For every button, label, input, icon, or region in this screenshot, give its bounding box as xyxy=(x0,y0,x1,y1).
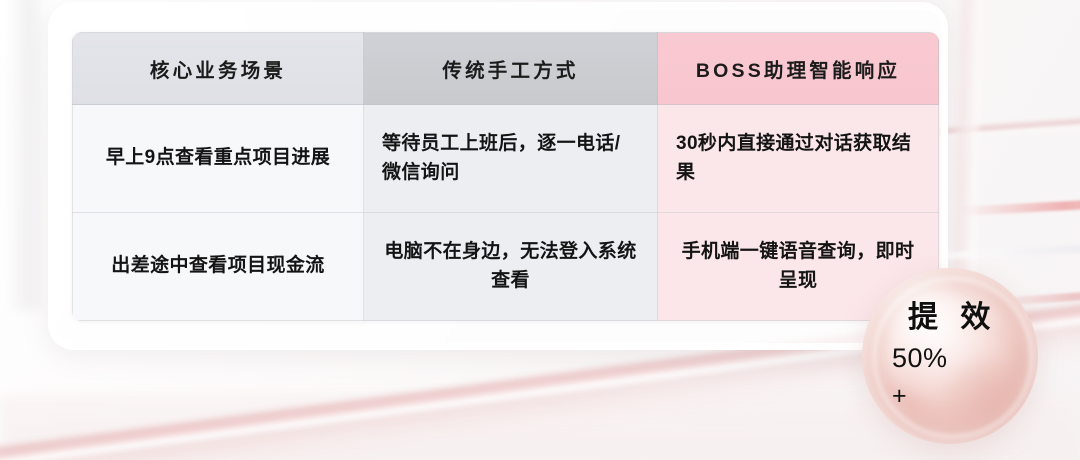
cell-manual-text: 等待员工上班后，逐一电话/微信询问 xyxy=(382,130,639,186)
cell-manual: 等待员工上班后，逐一电话/微信询问 xyxy=(364,105,658,213)
table-row: 早上9点查看重点项目进展 等待员工上班后，逐一电话/微信询问 30秒内直接通过对… xyxy=(73,105,939,213)
column-header-boss: BOSS助理智能响应 xyxy=(658,33,939,105)
background-streak-right-1 xyxy=(960,193,1080,216)
background-streak-left-vertical xyxy=(8,0,48,310)
cell-scenario: 出差途中查看项目现金流 xyxy=(73,213,364,321)
cell-manual-text: 电脑不在身边，无法登入系统查看 xyxy=(382,238,639,294)
comparison-table: 核心业务场景 传统手工方式 BOSS助理智能响应 早上9点查看重点项目进展 等待… xyxy=(72,32,939,321)
cell-manual: 电脑不在身边，无法登入系统查看 xyxy=(364,213,658,321)
table-row: 出差途中查看项目现金流 电脑不在身边，无法登入系统查看 手机端一键语音查询，即时… xyxy=(73,213,939,321)
table-header: 核心业务场景 传统手工方式 BOSS助理智能响应 xyxy=(73,33,939,105)
cell-scenario-text: 出差途中查看项目现金流 xyxy=(91,252,345,280)
cell-scenario-text: 早上9点查看重点项目进展 xyxy=(91,144,345,172)
table-header-row: 核心业务场景 传统手工方式 BOSS助理智能响应 xyxy=(73,33,939,105)
background-streak-right-3 xyxy=(940,237,1080,259)
badge-text-group: 提 效 50% + xyxy=(862,268,1038,444)
cell-scenario: 早上9点查看重点项目进展 xyxy=(73,105,364,213)
badge-suffix: + xyxy=(892,384,907,409)
table-body: 早上9点查看重点项目进展 等待员工上班后，逐一电话/微信询问 30秒内直接通过对… xyxy=(73,105,939,321)
column-header-manual: 传统手工方式 xyxy=(364,33,658,105)
efficiency-badge: 提 效 50% + xyxy=(862,268,1038,444)
badge-value: 50% xyxy=(892,345,948,372)
cell-boss-text: 30秒内直接通过对话获取结果 xyxy=(676,130,920,186)
cell-boss: 30秒内直接通过对话获取结果 xyxy=(658,105,939,213)
badge-title: 提 效 xyxy=(908,303,997,333)
column-header-scenario: 核心业务场景 xyxy=(73,33,364,105)
